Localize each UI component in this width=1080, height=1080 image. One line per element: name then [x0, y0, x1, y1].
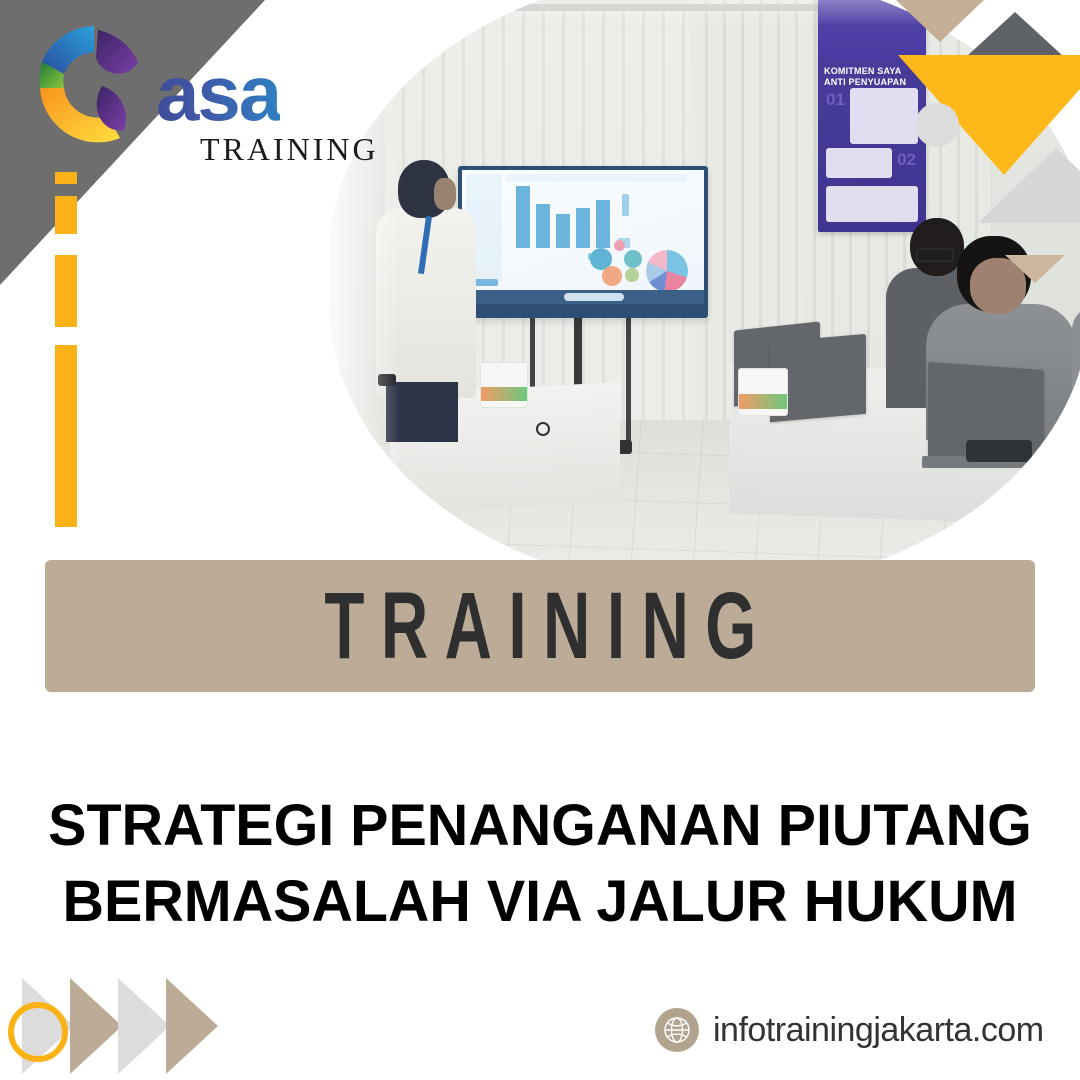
smartphone-on-table [966, 440, 1032, 462]
display-pie-chart [646, 250, 688, 292]
website-url[interactable]: infotrainingjakarta.com [713, 1011, 1044, 1050]
gray-circle-decor [915, 103, 959, 147]
standee-step-1: 01 [826, 90, 845, 110]
title-line-2: BERMASALAH VIA JALUR HUKUM [5, 864, 1074, 940]
chevron-2 [70, 978, 122, 1074]
title-line-1: STRATEGI PENANGANAN PIUTANG [5, 788, 1074, 864]
presenter-face [434, 178, 456, 210]
presentation-display [458, 166, 708, 318]
asa-circular-logo-icon [28, 18, 160, 150]
yellow-tick-2 [55, 196, 77, 234]
participant-3-arm [1072, 306, 1080, 426]
website-footer[interactable]: infotrainingjakarta.com [655, 1008, 1044, 1052]
light-gray-triangle [978, 148, 1080, 223]
chevron-4 [166, 978, 218, 1074]
training-banner: TRAINING [45, 560, 1035, 692]
logo-tagline: TRAINING [200, 131, 379, 168]
cable-loop [536, 422, 550, 436]
globe-icon [655, 1008, 699, 1052]
yellow-tick-4 [55, 345, 77, 527]
participant-2-glasses [916, 248, 954, 262]
yellow-tick-3 [55, 255, 77, 327]
poster-root: KOMITMEN SAYA ANTI PENYUAPAN 01 02 [0, 0, 1080, 1080]
training-banner-label: TRAINING [308, 572, 773, 681]
tan-triangle-small [1005, 255, 1065, 283]
tissue-box-right [738, 368, 788, 416]
chevron-3 [118, 978, 170, 1074]
tissue-box-left [480, 362, 528, 408]
page-title: STRATEGI PENANGANAN PIUTANG BERMASALAH V… [5, 788, 1074, 940]
display-screen [462, 170, 704, 304]
brand-logo[interactable]: asa TRAINING [28, 18, 348, 178]
tv-stand-leg-right [626, 310, 631, 450]
logo-wordmark: asa [156, 56, 280, 130]
participant-2-head [910, 218, 964, 276]
yellow-circle-outline [8, 1002, 68, 1062]
